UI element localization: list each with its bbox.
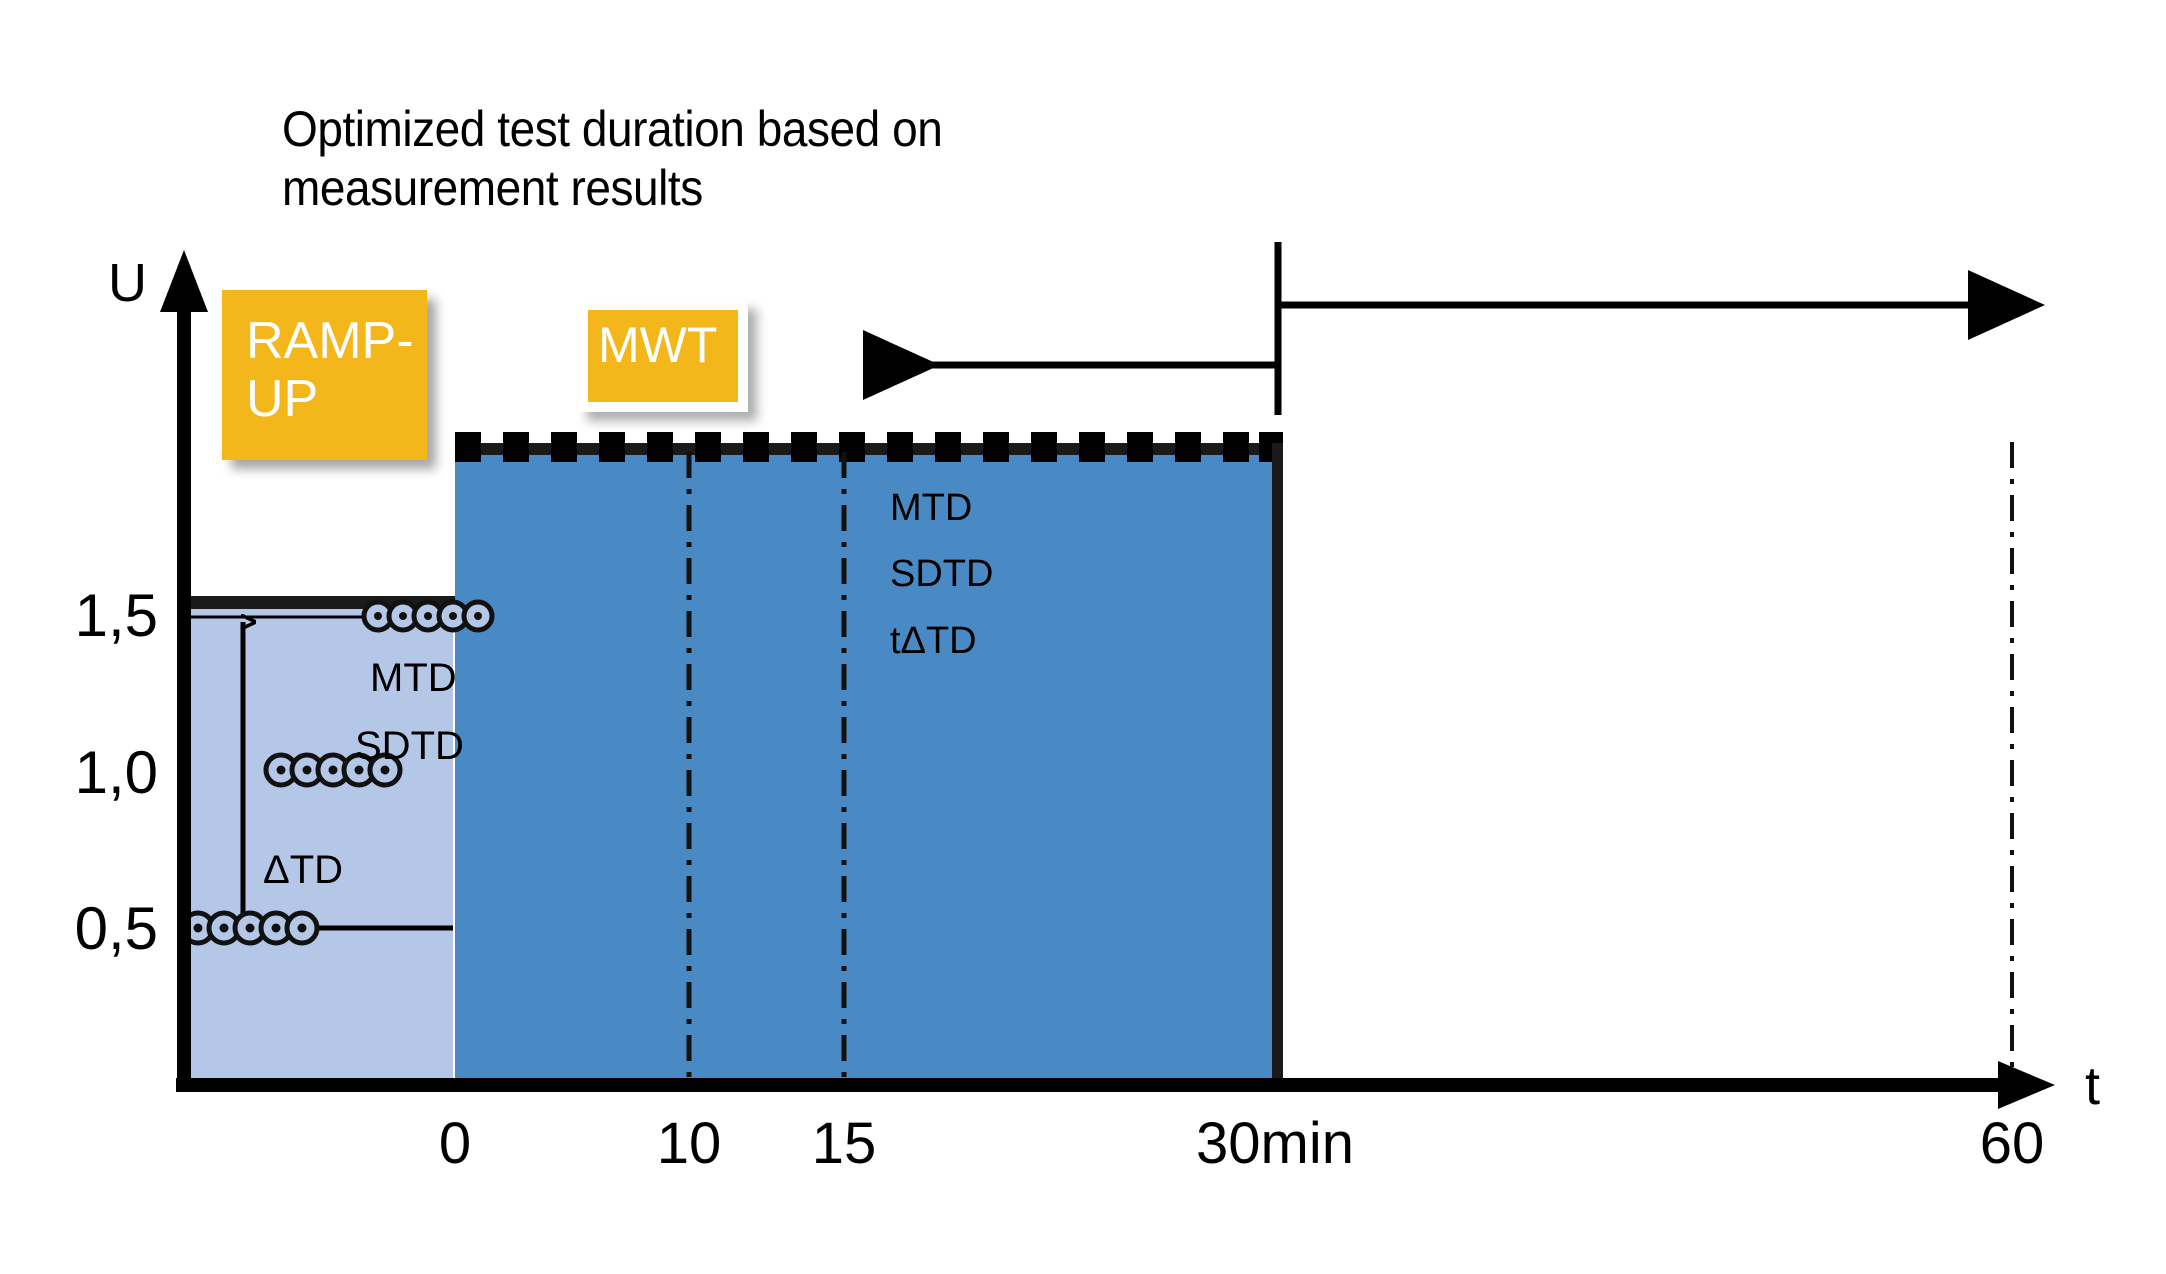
page-title: Optimized test duration based on measure…	[282, 100, 1110, 218]
x-tick-30min: 30min	[1160, 1110, 1390, 1177]
region-mwt	[455, 432, 1283, 1085]
x-tick-10: 10	[649, 1110, 729, 1177]
x-tick-15: 15	[804, 1110, 884, 1177]
annot-mwt-mtd: MTD	[890, 487, 972, 530]
badge-mwt-frame[interactable]: MWT	[578, 300, 748, 412]
y-tick-1-5: 1,5	[28, 581, 158, 650]
marker-chain-05	[183, 913, 317, 943]
y-tick-1-0: 1,0	[28, 738, 158, 807]
duration-arrows	[870, 242, 1975, 415]
annot-ramp-sdtd: SDTD	[355, 724, 464, 769]
annot-mwt-t-delta-td: tΔTD	[890, 620, 977, 663]
diagram-canvas: Optimized test duration based on measure…	[0, 0, 2166, 1274]
annot-ramp-mtd: MTD	[370, 656, 457, 701]
x-tick-0: 0	[415, 1110, 495, 1177]
annot-mwt-sdtd: SDTD	[890, 553, 993, 596]
axis-label-u: U	[108, 252, 147, 314]
x-tick-60: 60	[1972, 1110, 2052, 1177]
annot-ramp-delta-td: ΔTD	[263, 848, 343, 893]
marker-chain-15	[364, 602, 492, 630]
badge-ramp-up[interactable]: RAMP- UP	[222, 290, 427, 460]
axis-label-t: t	[2085, 1055, 2100, 1117]
badge-mwt-label: MWT	[588, 310, 738, 402]
y-tick-0-5: 0,5	[28, 894, 158, 963]
